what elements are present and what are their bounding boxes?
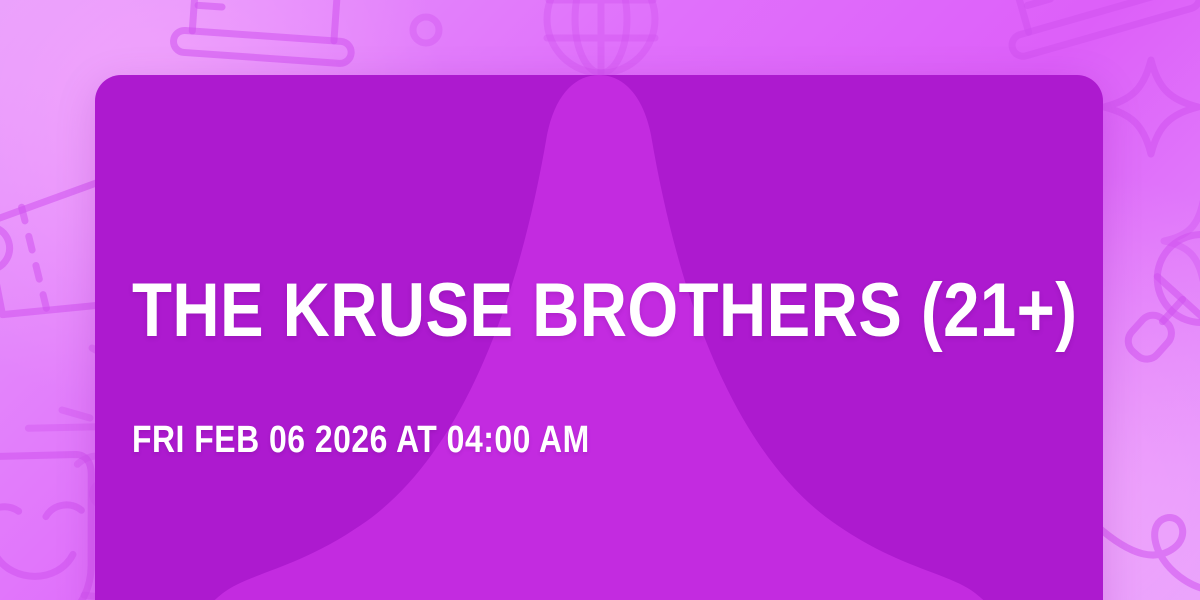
event-banner: THE KRUSE BROTHERS (21+) FRI FEB 06 2026… <box>0 0 1200 600</box>
event-card-text: THE KRUSE BROTHERS (21+) FRI FEB 06 2026… <box>132 75 1072 600</box>
event-card[interactable]: THE KRUSE BROTHERS (21+) FRI FEB 06 2026… <box>95 75 1103 600</box>
event-title: THE KRUSE BROTHERS (21+) <box>132 271 1077 351</box>
event-datetime: FRI FEB 06 2026 AT 04:00 AM <box>132 418 590 462</box>
